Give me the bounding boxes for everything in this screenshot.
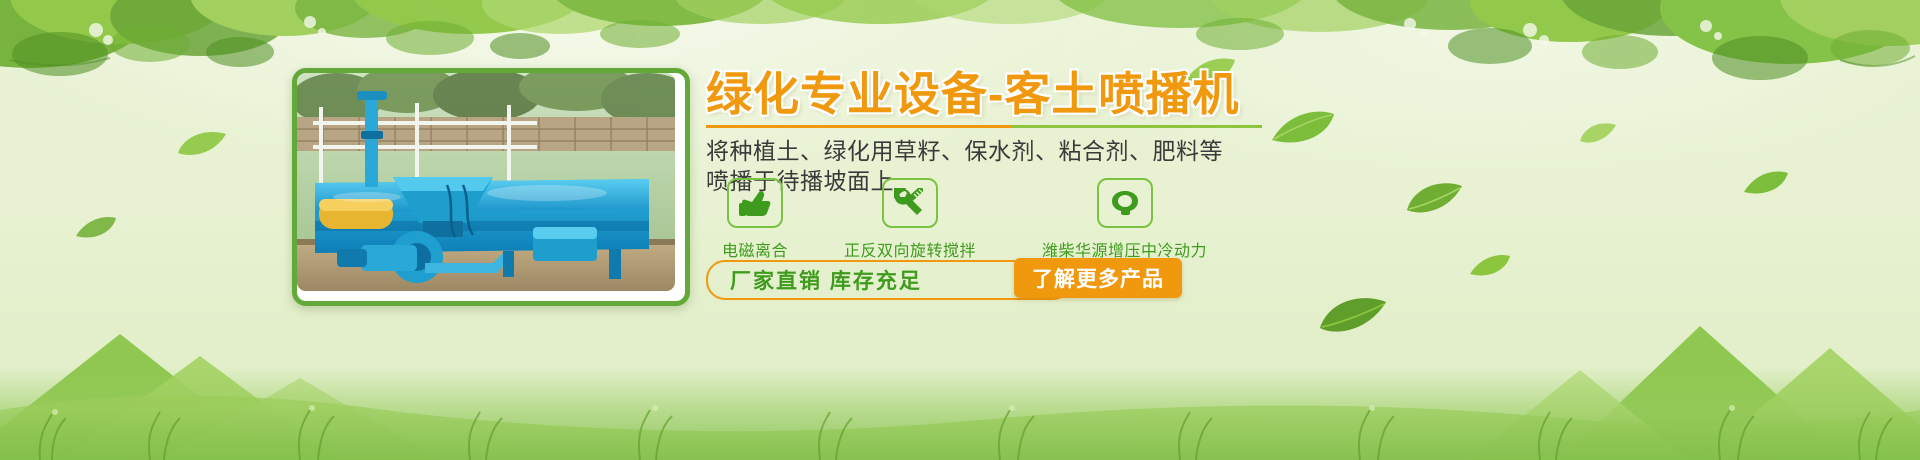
grass-tufts-decoration <box>0 374 1920 460</box>
feature-icon-box <box>727 178 783 228</box>
learn-more-button-label: 了解更多产品 <box>1032 263 1164 293</box>
feature-item-bidirectional-mixing[interactable]: 正反双向旋转搅拌 <box>844 178 976 261</box>
title-underline-rule <box>706 125 1262 128</box>
feature-icon-box <box>882 178 938 228</box>
floating-leaf-icon <box>1404 178 1466 218</box>
product-photo <box>297 73 675 291</box>
grass-svg <box>0 374 1920 460</box>
banner-title: 绿化专业设备-客土喷播机 <box>706 70 1406 119</box>
thumbs-up-icon <box>739 189 771 217</box>
product-photo-illustration <box>297 73 675 291</box>
feature-label: 正反双向旋转搅拌 <box>844 237 976 261</box>
feature-row: 电磁离合 正反双向旋转搅拌 <box>706 178 1406 261</box>
engine-power-icon <box>1109 189 1141 217</box>
feature-item-engine-power[interactable]: 潍柴华源增压中冷动力 <box>1042 178 1207 261</box>
floating-leaf-icon <box>1316 292 1390 338</box>
feature-label: 电磁离合 <box>722 237 788 261</box>
floating-leaf-icon <box>176 128 228 160</box>
wrench-screwdriver-icon <box>894 188 926 218</box>
product-photo-frame[interactable] <box>292 68 690 306</box>
call-to-action-row: 厂家直销 库存充足 了解更多产品 <box>706 260 1072 300</box>
floating-leaf-icon <box>1578 120 1618 146</box>
feature-item-electromagnetic-clutch[interactable]: 电磁离合 <box>722 178 788 261</box>
floating-leaf-icon <box>74 214 118 242</box>
promo-banner: 绿化专业设备-客土喷播机 将种植土、绿化用草籽、保水剂、粘合剂、肥料等 喷播于待… <box>0 0 1920 460</box>
banner-subtitle-line1: 将种植土、绿化用草籽、保水剂、粘合剂、肥料等 <box>706 136 1406 167</box>
promo-text: 厂家直销 库存充足 <box>730 265 1054 295</box>
learn-more-button[interactable]: 了解更多产品 <box>1014 258 1182 298</box>
feature-icon-box <box>1097 178 1153 228</box>
floating-leaf-icon <box>1742 168 1790 198</box>
floating-leaf-icon <box>1468 252 1512 280</box>
feature-list: 电磁离合 正反双向旋转搅拌 <box>706 178 1406 261</box>
